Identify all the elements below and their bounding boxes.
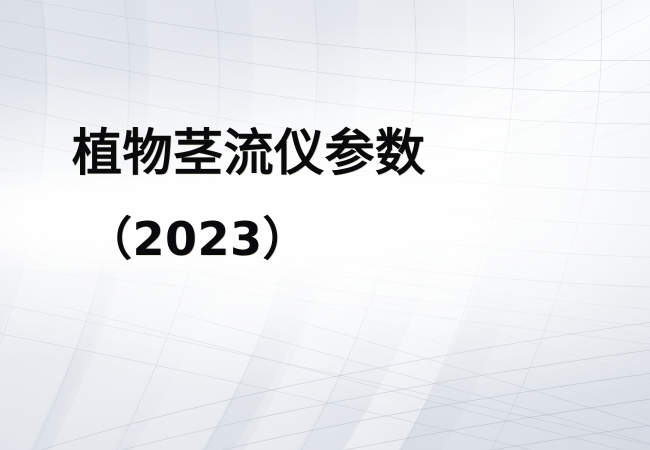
page-subtitle-year: （2023）: [72, 216, 572, 262]
title-slide: 植物茎流仪参数 （2023）: [0, 0, 650, 450]
slide-title-block: 植物茎流仪参数 （2023）: [72, 128, 572, 262]
page-title: 植物茎流仪参数: [72, 128, 572, 178]
